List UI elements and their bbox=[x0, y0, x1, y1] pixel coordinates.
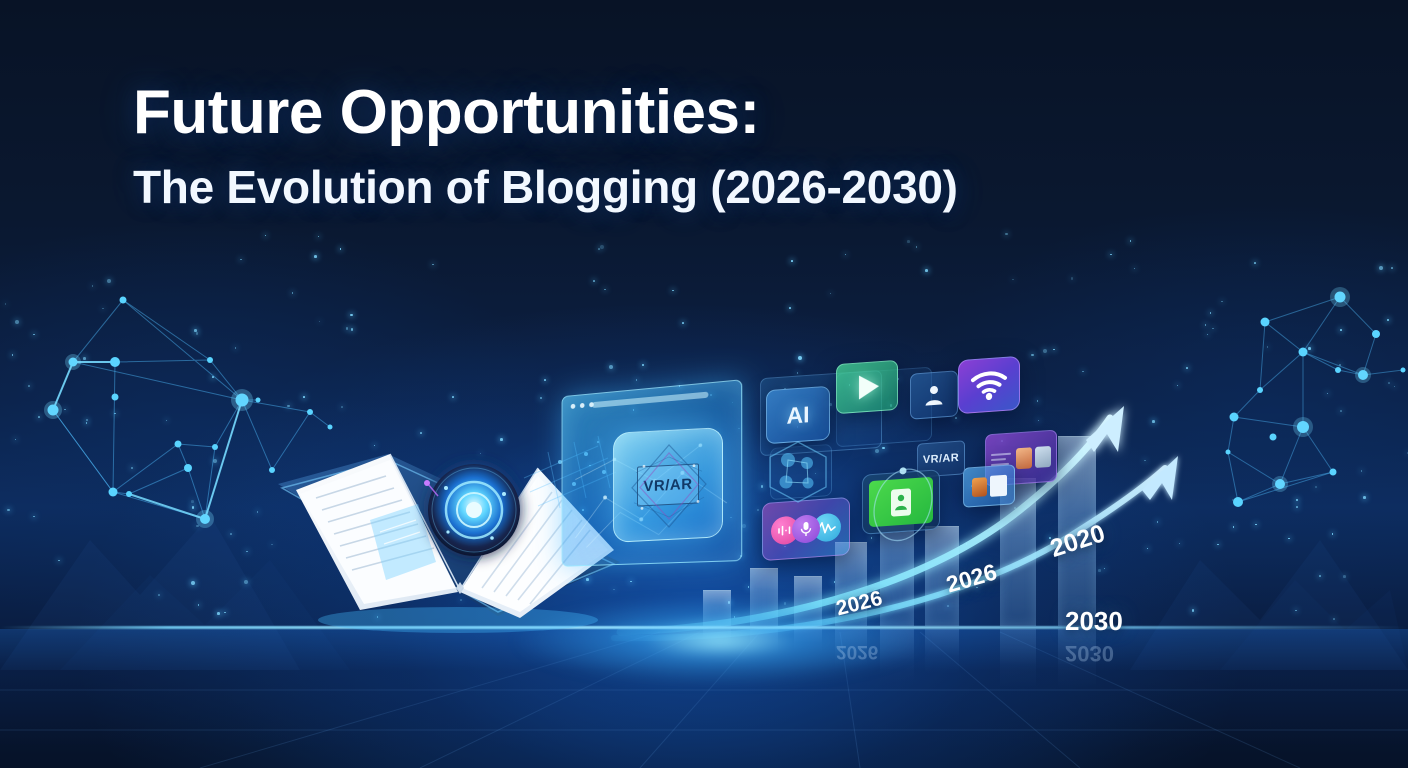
star bbox=[682, 322, 684, 324]
star bbox=[198, 604, 200, 606]
star bbox=[1233, 526, 1235, 528]
star bbox=[1343, 575, 1346, 578]
star bbox=[845, 254, 847, 256]
star bbox=[1071, 277, 1074, 280]
star bbox=[672, 290, 674, 292]
green-profile-card[interactable] bbox=[862, 469, 940, 534]
star bbox=[798, 356, 802, 360]
star bbox=[5, 303, 7, 305]
star bbox=[224, 612, 226, 614]
star bbox=[15, 439, 17, 441]
star bbox=[114, 413, 116, 415]
star bbox=[1379, 266, 1383, 270]
star bbox=[875, 449, 879, 453]
title-block: Future Opportunities: The Evolution of B… bbox=[133, 82, 958, 210]
star bbox=[240, 259, 242, 261]
star bbox=[1177, 385, 1179, 387]
star bbox=[318, 236, 320, 238]
star bbox=[350, 314, 353, 317]
star bbox=[1333, 618, 1335, 620]
star bbox=[432, 264, 434, 266]
star bbox=[191, 581, 195, 585]
star bbox=[830, 293, 832, 295]
star bbox=[642, 364, 645, 367]
star bbox=[287, 405, 290, 408]
user-profile-card[interactable] bbox=[910, 370, 958, 419]
star bbox=[1043, 349, 1047, 353]
star bbox=[598, 248, 600, 250]
star bbox=[907, 240, 910, 243]
star bbox=[1012, 279, 1014, 281]
avatar bbox=[1035, 445, 1051, 467]
star bbox=[544, 379, 546, 381]
year-label-reflection: 2026 bbox=[836, 640, 878, 662]
star bbox=[83, 357, 86, 360]
star bbox=[797, 372, 799, 374]
star bbox=[540, 397, 543, 400]
star bbox=[1315, 486, 1318, 489]
star bbox=[192, 506, 195, 509]
star bbox=[1327, 393, 1329, 395]
star bbox=[1205, 324, 1207, 326]
play-icon bbox=[859, 374, 879, 399]
star bbox=[1031, 354, 1034, 357]
page-subtitle: The Evolution of Blogging (2026-2030) bbox=[133, 164, 958, 210]
star bbox=[1391, 267, 1393, 269]
star bbox=[196, 525, 199, 528]
star bbox=[1192, 609, 1195, 612]
star bbox=[158, 594, 160, 596]
star bbox=[1114, 425, 1117, 428]
star bbox=[194, 329, 197, 332]
avatar bbox=[972, 477, 987, 497]
star bbox=[58, 560, 60, 562]
star bbox=[244, 580, 248, 584]
star bbox=[1179, 543, 1181, 545]
star bbox=[257, 511, 259, 513]
star bbox=[102, 308, 104, 310]
star bbox=[1221, 301, 1223, 303]
star bbox=[1295, 610, 1297, 612]
star bbox=[246, 551, 248, 553]
star bbox=[33, 334, 35, 336]
star bbox=[265, 235, 267, 237]
star bbox=[86, 419, 88, 421]
star bbox=[1130, 240, 1132, 242]
hexagon-node-cluster bbox=[762, 438, 834, 506]
star bbox=[1037, 400, 1039, 402]
star bbox=[1296, 499, 1299, 502]
video-play-card[interactable] bbox=[836, 360, 898, 414]
star bbox=[351, 328, 354, 331]
star bbox=[1296, 506, 1298, 508]
star bbox=[166, 420, 168, 422]
star bbox=[1212, 328, 1214, 330]
star bbox=[213, 459, 217, 463]
star bbox=[64, 409, 66, 411]
star bbox=[1152, 420, 1155, 423]
star bbox=[33, 516, 35, 518]
star bbox=[925, 269, 928, 272]
star bbox=[1207, 334, 1209, 336]
star bbox=[1363, 496, 1366, 499]
star bbox=[1104, 568, 1106, 570]
document-thumbnail bbox=[990, 474, 1007, 496]
star bbox=[630, 581, 632, 583]
star bbox=[28, 385, 30, 387]
star bbox=[191, 500, 194, 503]
star bbox=[235, 347, 237, 349]
vr-ar-decor bbox=[614, 428, 724, 544]
wifi-icon bbox=[970, 369, 1008, 402]
star bbox=[15, 320, 19, 324]
star bbox=[92, 285, 94, 287]
address-bar[interactable] bbox=[592, 392, 708, 408]
star bbox=[1082, 371, 1084, 373]
star bbox=[12, 354, 14, 356]
star bbox=[131, 467, 134, 470]
page-title: Future Opportunities: bbox=[133, 82, 958, 144]
star bbox=[636, 379, 638, 381]
star bbox=[609, 365, 613, 369]
star bbox=[1308, 347, 1311, 350]
star bbox=[604, 289, 606, 291]
ai-label: AI bbox=[787, 401, 810, 430]
year-label: 2030 bbox=[1065, 606, 1123, 637]
star bbox=[7, 509, 10, 512]
star bbox=[1110, 254, 1112, 256]
star bbox=[1267, 346, 1269, 348]
star bbox=[1255, 524, 1257, 526]
star bbox=[1387, 319, 1390, 322]
star bbox=[1210, 312, 1212, 314]
star bbox=[1053, 349, 1055, 351]
network-constellation-right bbox=[1198, 282, 1408, 532]
star bbox=[1005, 233, 1008, 236]
star bbox=[1134, 268, 1136, 270]
star bbox=[1144, 460, 1146, 462]
star bbox=[593, 280, 595, 282]
avatar bbox=[1016, 447, 1032, 469]
star bbox=[1339, 364, 1341, 366]
year-label-reflection: 2030 bbox=[1065, 640, 1114, 666]
star bbox=[1388, 382, 1390, 384]
ai-card[interactable]: AI bbox=[766, 386, 830, 444]
star bbox=[960, 545, 962, 547]
star bbox=[217, 612, 220, 615]
user-icon bbox=[922, 382, 946, 408]
star bbox=[107, 279, 111, 283]
star bbox=[38, 416, 40, 418]
audio-podcast-card[interactable] bbox=[762, 497, 850, 561]
star bbox=[1319, 575, 1321, 577]
star bbox=[1254, 262, 1256, 264]
star bbox=[1340, 410, 1342, 412]
star bbox=[319, 321, 321, 323]
star bbox=[791, 260, 793, 262]
star bbox=[1232, 499, 1234, 501]
star bbox=[86, 422, 88, 424]
star bbox=[1147, 548, 1149, 550]
star bbox=[916, 246, 918, 248]
star bbox=[196, 332, 199, 335]
star bbox=[748, 586, 750, 588]
star bbox=[882, 447, 885, 450]
orbit-ring bbox=[857, 462, 949, 546]
star bbox=[1186, 367, 1188, 369]
star bbox=[1288, 538, 1290, 540]
microphone-icon bbox=[792, 514, 820, 544]
star bbox=[1157, 521, 1159, 523]
star bbox=[1217, 544, 1219, 546]
star bbox=[1098, 569, 1101, 572]
star bbox=[341, 406, 343, 408]
window-traffic-lights[interactable] bbox=[571, 402, 594, 409]
star bbox=[955, 417, 957, 419]
star bbox=[757, 509, 759, 511]
star bbox=[1340, 329, 1342, 331]
hero-banner: Future Opportunities: The Evolution of B… bbox=[0, 0, 1408, 768]
star bbox=[303, 396, 305, 398]
social-media-post-card[interactable] bbox=[963, 464, 1015, 508]
star bbox=[340, 248, 342, 250]
star bbox=[230, 533, 232, 535]
star bbox=[314, 255, 317, 258]
star bbox=[600, 245, 604, 249]
star bbox=[1361, 470, 1363, 472]
star bbox=[1394, 386, 1396, 388]
star bbox=[966, 543, 968, 545]
star bbox=[1332, 533, 1334, 535]
star bbox=[452, 396, 454, 398]
star bbox=[212, 376, 214, 378]
wifi-connectivity-card[interactable] bbox=[958, 356, 1020, 414]
star bbox=[292, 292, 294, 294]
star bbox=[789, 307, 791, 309]
star bbox=[346, 327, 349, 330]
star bbox=[1038, 420, 1040, 422]
vr-ar-card[interactable]: VR/AR bbox=[613, 427, 723, 543]
